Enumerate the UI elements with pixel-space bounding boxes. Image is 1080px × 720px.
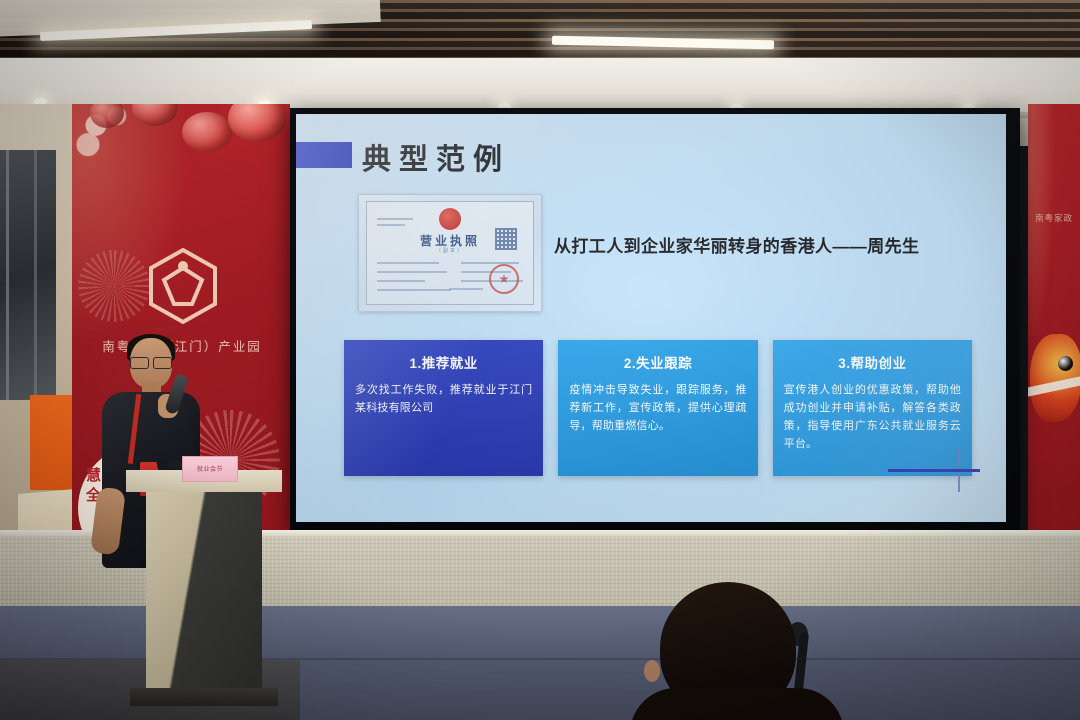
slide-headline: 从打工人到企业家华丽转身的香港人——周先生 [554, 232, 990, 257]
audience-ear [644, 660, 660, 682]
cross-decor-horizontal [888, 469, 980, 472]
projection-screen: 典型范例 营业执照 （副本） 从打工人到企业家华丽转身的香港人——周先生 [296, 114, 1006, 522]
firework-icon [78, 250, 150, 322]
national-emblem-icon [439, 208, 461, 230]
case-card-body: 多次找工作失败，推荐就业于江门某科技有限公司 [355, 381, 532, 417]
podium-base [130, 688, 278, 706]
lantern-icon [182, 112, 232, 152]
license-text-line [377, 218, 413, 220]
audience-member [648, 582, 826, 720]
license-text-line [461, 262, 519, 264]
lantern-icon [228, 104, 286, 142]
lion-eye [1058, 356, 1073, 371]
case-card: 3.帮助创业 宣传港人创业的优惠政策，帮助他成功创业并申请补贴，解答各类政策，指… [773, 340, 972, 476]
lion-dance-icon [1030, 334, 1080, 422]
podium: 就业会节 [126, 470, 282, 720]
case-card: 1.推荐就业 多次找工作失败，推荐就业于江门某科技有限公司 [344, 340, 543, 476]
case-card-body: 宣传港人创业的优惠政策，帮助他成功创业并申请补贴，解答各类政策，指导使用广东公共… [784, 381, 961, 453]
podium-sign-text: 就业会节 [183, 464, 237, 473]
wristwatch-icon [168, 460, 183, 469]
glasses-icon [130, 357, 172, 367]
podium-body [146, 492, 262, 688]
case-card-list: 1.推荐就业 多次找工作失败，推荐就业于江门某科技有限公司 2.失业跟踪 疫情冲… [344, 340, 972, 476]
license-text-line [377, 280, 425, 282]
case-card: 2.失业跟踪 疫情冲击导致失业，跟踪服务，推荐新工作，宣传政策，提供心理疏导，帮… [558, 340, 757, 476]
license-text-line [377, 224, 405, 226]
license-text-line [377, 262, 439, 264]
hexagon-house-logo-icon [146, 246, 220, 326]
photo-scene: 南粤家政（江门）产业园 慧生全能月 南粤家政 典型范例 营业执照 [0, 0, 1080, 720]
official-seal-icon [489, 264, 519, 294]
case-card-heading: 1.推荐就业 [355, 352, 532, 372]
slide-title: 典型范例 [362, 136, 510, 178]
audience-shoulders [630, 688, 844, 720]
lion-band [1028, 376, 1080, 396]
ceiling-slats [0, 0, 1080, 62]
case-card-body: 疫情冲击导致失业，跟踪服务，推荐新工作，宣传政策，提供心理疏导，帮助重燃信心。 [569, 381, 746, 435]
title-accent-bar [296, 142, 352, 168]
business-license-image: 营业执照 （副本） [358, 194, 542, 312]
license-text-line [377, 289, 451, 291]
qr-code-icon [495, 228, 517, 250]
license-signature-line [449, 288, 483, 290]
case-card-heading: 2.失业跟踪 [569, 352, 746, 372]
left-glass-partition [0, 150, 56, 400]
license-inner-frame: 营业执照 （副本） [366, 201, 534, 305]
case-card-heading: 3.帮助创业 [784, 352, 961, 372]
right-banner-org-name: 南粤家政 [1030, 212, 1078, 224]
podium-sign: 就业会节 [182, 456, 238, 482]
license-text-line [377, 271, 447, 273]
